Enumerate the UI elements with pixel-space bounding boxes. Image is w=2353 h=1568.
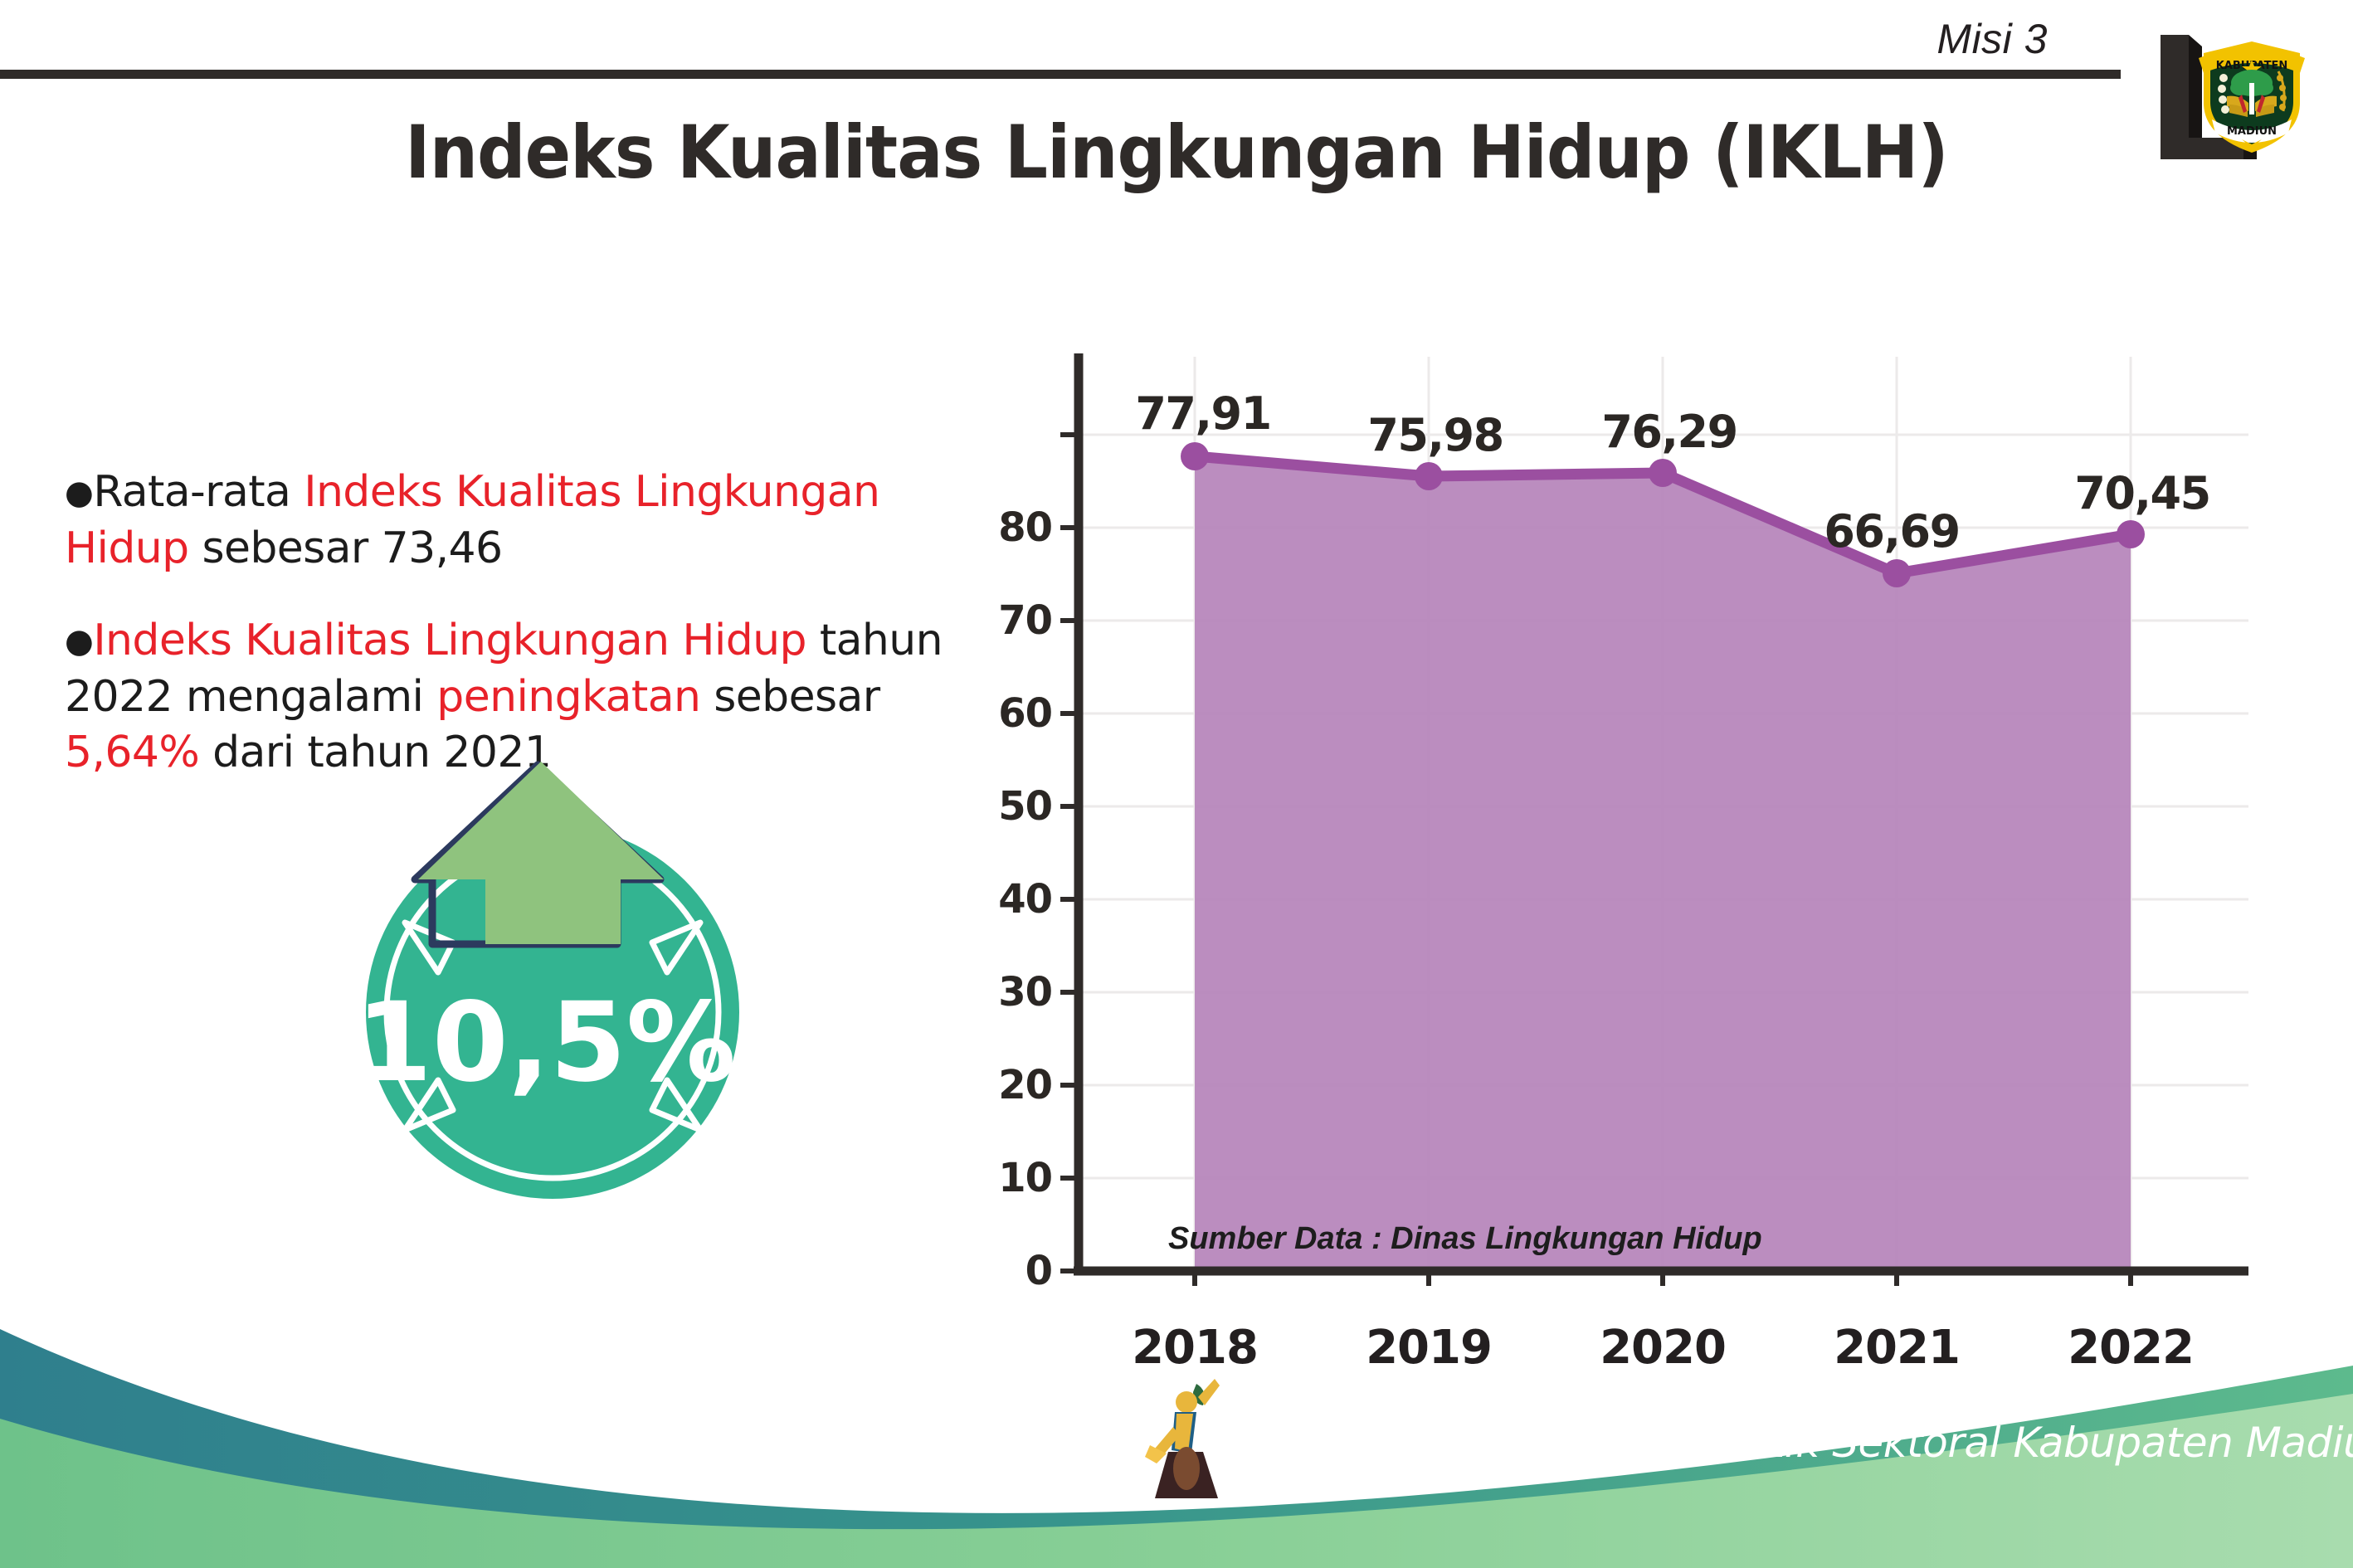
- data-point-2020: [1649, 459, 1677, 487]
- iklh-area-chart: 0 10 20 30 40 50 60 70 80 2018 2019 2020…: [954, 274, 2315, 1286]
- bullet-1-part-2: peningkatan: [436, 672, 700, 722]
- bullet-1-part-3: sebesar: [700, 672, 879, 722]
- data-point-2019: [1415, 462, 1443, 490]
- y-tick-0: 0: [1025, 1248, 1052, 1294]
- bullet-0-part-2: sebesar 73,46: [189, 523, 503, 573]
- data-label-2019: 75,98: [1367, 409, 1503, 461]
- mission-label: Misi 3: [1936, 15, 2048, 63]
- bullet-1-part-4: 5,64%: [65, 728, 199, 777]
- data-point-2021: [1883, 559, 1911, 587]
- increase-badge: 10,5%: [329, 747, 777, 1220]
- y-tick-40: 40: [998, 876, 1052, 923]
- y-tick-10: 10: [998, 1155, 1052, 1201]
- bullet-dot-icon: ●: [65, 474, 93, 512]
- y-axis-labels: 0 10 20 30 40 50 60 70 80: [954, 274, 1052, 1286]
- data-point-2022: [2117, 520, 2145, 548]
- page-title: Indeks Kualitas Lingkungan Hidup (IKLH): [82, 110, 2270, 195]
- bullet-item-0: ●Rata-rata Indeks Kualitas Lingkungan Hi…: [65, 465, 986, 577]
- area-fill: [1195, 456, 2131, 1271]
- y-tick-30: 30: [998, 969, 1052, 1015]
- data-label-2018: 77,91: [1135, 387, 1270, 440]
- bullet-1-part-0: Indeks Kualitas Lingkungan Hidup: [93, 616, 806, 665]
- footer-caption: Media Infografis Data Statistik Sektoral…: [1205, 1419, 2353, 1467]
- y-tick-70: 70: [998, 597, 1052, 644]
- badge-value: 10,5%: [356, 979, 736, 1107]
- bullet-0-part-0: Rata-rata: [93, 467, 304, 517]
- infographic-slide: Misi 3 KABUPATEN M: [0, 0, 2353, 1568]
- y-tick-80: 80: [998, 504, 1052, 551]
- y-tick-20: 20: [998, 1062, 1052, 1108]
- header-rule: [0, 70, 2121, 79]
- data-point-2018: [1181, 442, 1209, 470]
- source-note: Sumber Data : Dinas Lingkungan Hidup: [1168, 1221, 1762, 1257]
- data-label-2020: 76,29: [1601, 406, 1737, 458]
- data-label-2021: 66,69: [1824, 505, 1959, 558]
- bullet-dot-icon: ●: [65, 622, 93, 660]
- data-label-2022: 70,45: [2074, 467, 2209, 519]
- y-tick-60: 60: [998, 690, 1052, 737]
- y-tick-50: 50: [998, 783, 1052, 830]
